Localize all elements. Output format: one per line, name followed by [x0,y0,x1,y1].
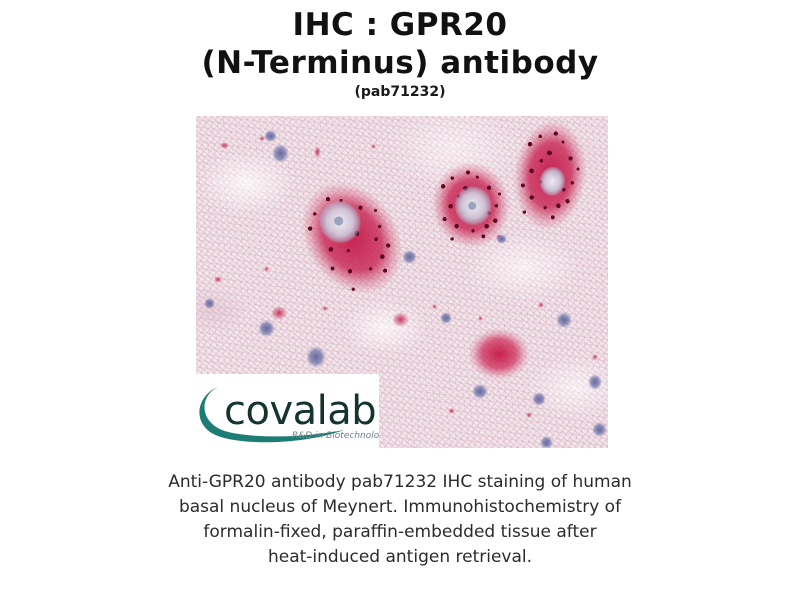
glial-nucleus [472,384,488,399]
stain-speck [432,304,437,309]
glial-nucleus [306,346,326,368]
covalab-logo: covalab R&D in Biotechnology [196,374,379,448]
ihc-micrograph: covalab R&D in Biotechnology [196,116,608,448]
stain-speck [538,302,544,308]
stain-speck [448,408,455,414]
figure-caption: Anti-GPR20 antibody pab71232 IHC stainin… [0,470,800,570]
glial-nucleus [588,374,602,390]
stain-speck [271,306,287,320]
stain-speck [478,316,483,321]
caption-line-3: formalin-fixed, paraffin-embedded tissue… [0,520,800,545]
stain-speck [371,144,376,149]
page-title-line-2: (N-Terminus) antibody [0,44,800,82]
page-title-line-1: IHC : GPR20 [0,6,800,44]
catalog-number: (pab71232) [0,83,800,101]
stain-speck [264,266,269,272]
stain-speck [592,354,598,360]
glial-nucleus [402,250,417,264]
caption-line-4: heat-induced antigen retrieval. [0,545,800,570]
glial-nucleus [258,320,275,337]
glial-nucleus [272,144,289,163]
stain-speck [392,312,409,327]
pyramidal-neuron-right [508,117,591,234]
glial-nucleus [540,436,553,448]
stain-speck [214,276,222,283]
glial-nucleus [204,298,215,309]
glial-nucleus [532,392,546,406]
caption-line-1: Anti-GPR20 antibody pab71232 IHC stainin… [0,470,800,495]
micrograph-canvas: covalab R&D in Biotechnology [196,116,608,448]
stain-speck [526,412,532,418]
glial-nucleus [556,312,572,328]
stain-speck [220,142,229,149]
logo-tagline: R&D in Biotechnology [292,431,379,441]
stain-speck [314,146,321,158]
stain-speck [322,306,328,311]
logo-wordmark: covalab [224,388,376,434]
glial-nucleus [592,422,607,437]
glial-nucleus [264,130,277,142]
covalab-logo-svg: covalab R&D in Biotechnology [196,374,379,448]
page-title-block: IHC : GPR20 (N-Terminus) antibody (pab71… [0,0,800,101]
glial-nucleus [496,234,507,244]
caption-line-2: basal nucleus of Meynert. Immunohistoche… [0,495,800,520]
glial-nucleus [440,312,452,324]
